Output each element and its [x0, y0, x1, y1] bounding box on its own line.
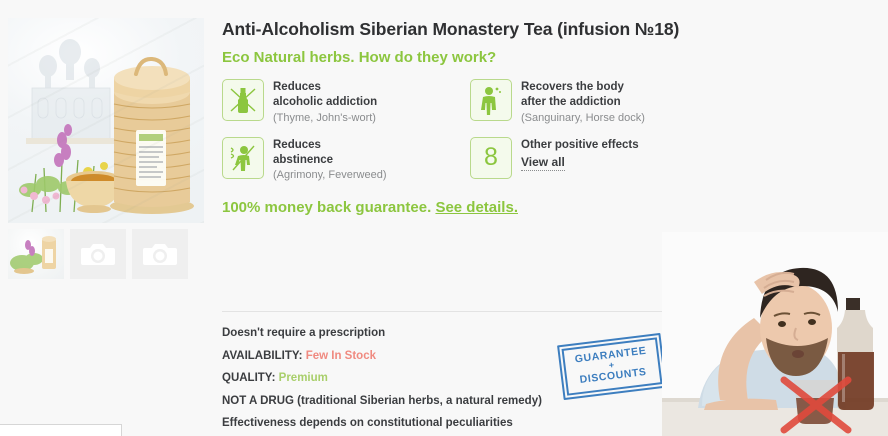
guarantee-discounts-stamp: GUARANTEE + DISCOUNTS	[557, 333, 667, 400]
benefit-line-1: Reduces	[273, 138, 387, 153]
camera-icon	[143, 241, 177, 267]
bottle-crossed-out-icon	[222, 79, 264, 121]
thumbnail-placeholder-2[interactable]	[132, 229, 188, 279]
product-hero-image[interactable]	[8, 18, 204, 223]
fact-label: AVAILABILITY:	[222, 350, 303, 362]
man-with-bottle-illustration	[662, 232, 888, 436]
hungover-man-photo	[662, 232, 888, 436]
benefit-line-2: after the addiction	[521, 95, 645, 110]
fact-label: QUALITY:	[222, 372, 275, 384]
fact-prescription: Doesn't require a prescription	[222, 328, 622, 340]
benefit-recovers-the-body: Recovers the body after the addiction (S…	[470, 79, 692, 124]
benefit-line-1: Recovers the body	[521, 80, 645, 95]
money-back-guarantee: 100% money back guarantee. See details.	[222, 199, 692, 216]
fact-label: Effectiveness depends on constitutional …	[222, 417, 513, 429]
bottom-left-panel	[0, 424, 122, 436]
thumbnail-strip	[8, 229, 204, 279]
guarantee-text: 100% money back guarantee.	[222, 199, 431, 216]
camera-icon	[81, 241, 115, 267]
benefit-other-positive-effects: 8 Other positive effects View all	[470, 137, 692, 182]
page-title: Anti-Alcoholism Siberian Monastery Tea (…	[222, 19, 692, 40]
benefit-herbs: (Thyme, John's-wort)	[273, 112, 377, 124]
benefit-herbs: (Agrimony, Feverweed)	[273, 169, 387, 181]
fact-label: NOT A DRUG (traditional Siberian herbs, …	[222, 395, 542, 407]
thumbnail-product-photo[interactable]	[8, 229, 64, 279]
benefit-reduces-abstinence: Reduces abstinence (Agrimony, Feverweed)	[222, 137, 470, 182]
benefit-line-2: alcoholic addiction	[273, 95, 377, 110]
fact-not-a-drug: NOT A DRUG (traditional Siberian herbs, …	[222, 396, 622, 408]
quality-value: Premium	[279, 372, 328, 384]
benefit-line-1: Reduces	[273, 80, 377, 95]
product-subtitle: Eco Natural herbs. How do they work?	[222, 49, 692, 66]
benefits-grid: Reduces alcoholic addiction (Thyme, John…	[222, 79, 692, 181]
availability-value: Few In Stock	[306, 350, 376, 362]
person-abstinence-icon	[222, 137, 264, 179]
number-eight-icon: 8	[470, 137, 512, 179]
benefit-herbs: (Sanguinary, Horse dock)	[521, 112, 645, 124]
view-all-link[interactable]: View all	[521, 155, 565, 171]
benefit-line-2: abstinence	[273, 153, 387, 168]
product-gallery	[8, 18, 204, 279]
benefit-line-1: Other positive effects	[521, 138, 639, 153]
person-recovery-icon	[470, 79, 512, 121]
other-effects-count: 8	[484, 145, 498, 170]
product-page: Anti-Alcoholism Siberian Monastery Tea (…	[0, 0, 888, 436]
fact-effectiveness: Effectiveness depends on constitutional …	[222, 418, 622, 430]
fact-label: Doesn't require a prescription	[222, 327, 385, 339]
benefit-reduces-alcoholic-addiction: Reduces alcoholic addiction (Thyme, John…	[222, 79, 470, 124]
thumbnail-placeholder-1[interactable]	[70, 229, 126, 279]
thumbnail-product-preview-icon	[8, 229, 64, 279]
birch-bark-tea-container	[106, 56, 198, 214]
see-details-link[interactable]: See details.	[435, 199, 518, 216]
product-details: Anti-Alcoholism Siberian Monastery Tea (…	[222, 0, 692, 216]
section-divider	[222, 311, 690, 312]
